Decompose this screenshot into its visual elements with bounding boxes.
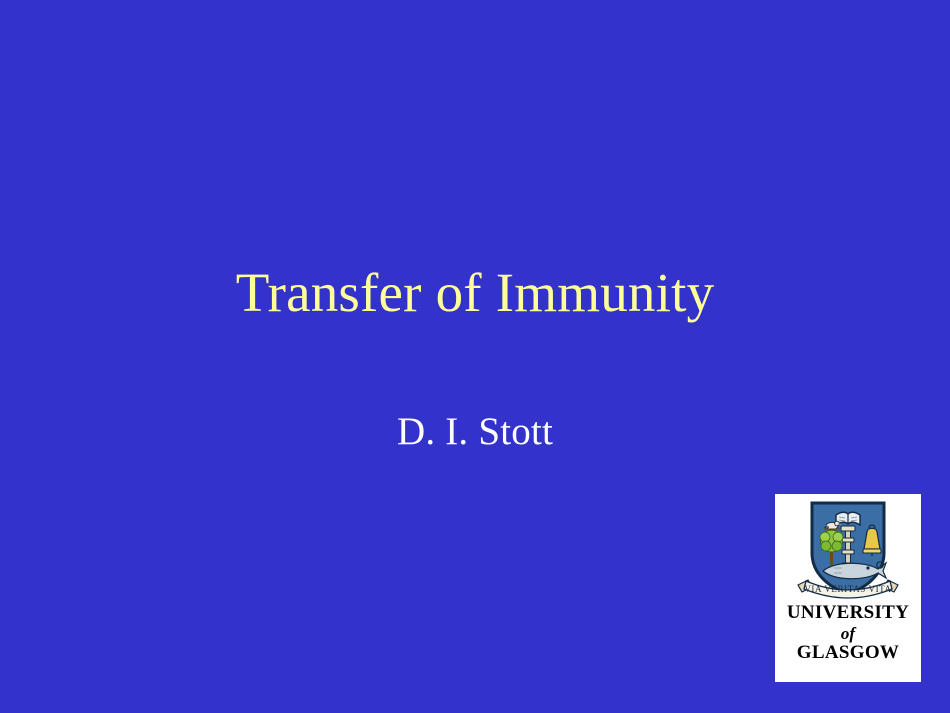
page-title: Transfer of Immunity [0,264,950,322]
wordmark-university: UNIVERSITY [775,603,921,624]
author-name: D. I. Stott [0,412,950,453]
university-wordmark: UNIVERSITY of GLASGOW [775,603,921,664]
title-placeholder: Transfer of Immunity [0,264,950,322]
motto-text: VIA VERITAS VITA [804,584,891,594]
subtitle-placeholder: D. I. Stott [0,412,950,453]
university-of-glasgow-logo: VIA VERITAS VITA UNIVERSITY of GLASGOW [775,494,921,682]
wordmark-glasgow: GLASGOW [775,643,921,664]
glasgow-coat-of-arms-crest: VIA VERITAS VITA [790,497,906,602]
wordmark-of: of [775,624,921,644]
presentation-slide: Transfer of Immunity D. I. Stott [0,0,950,713]
